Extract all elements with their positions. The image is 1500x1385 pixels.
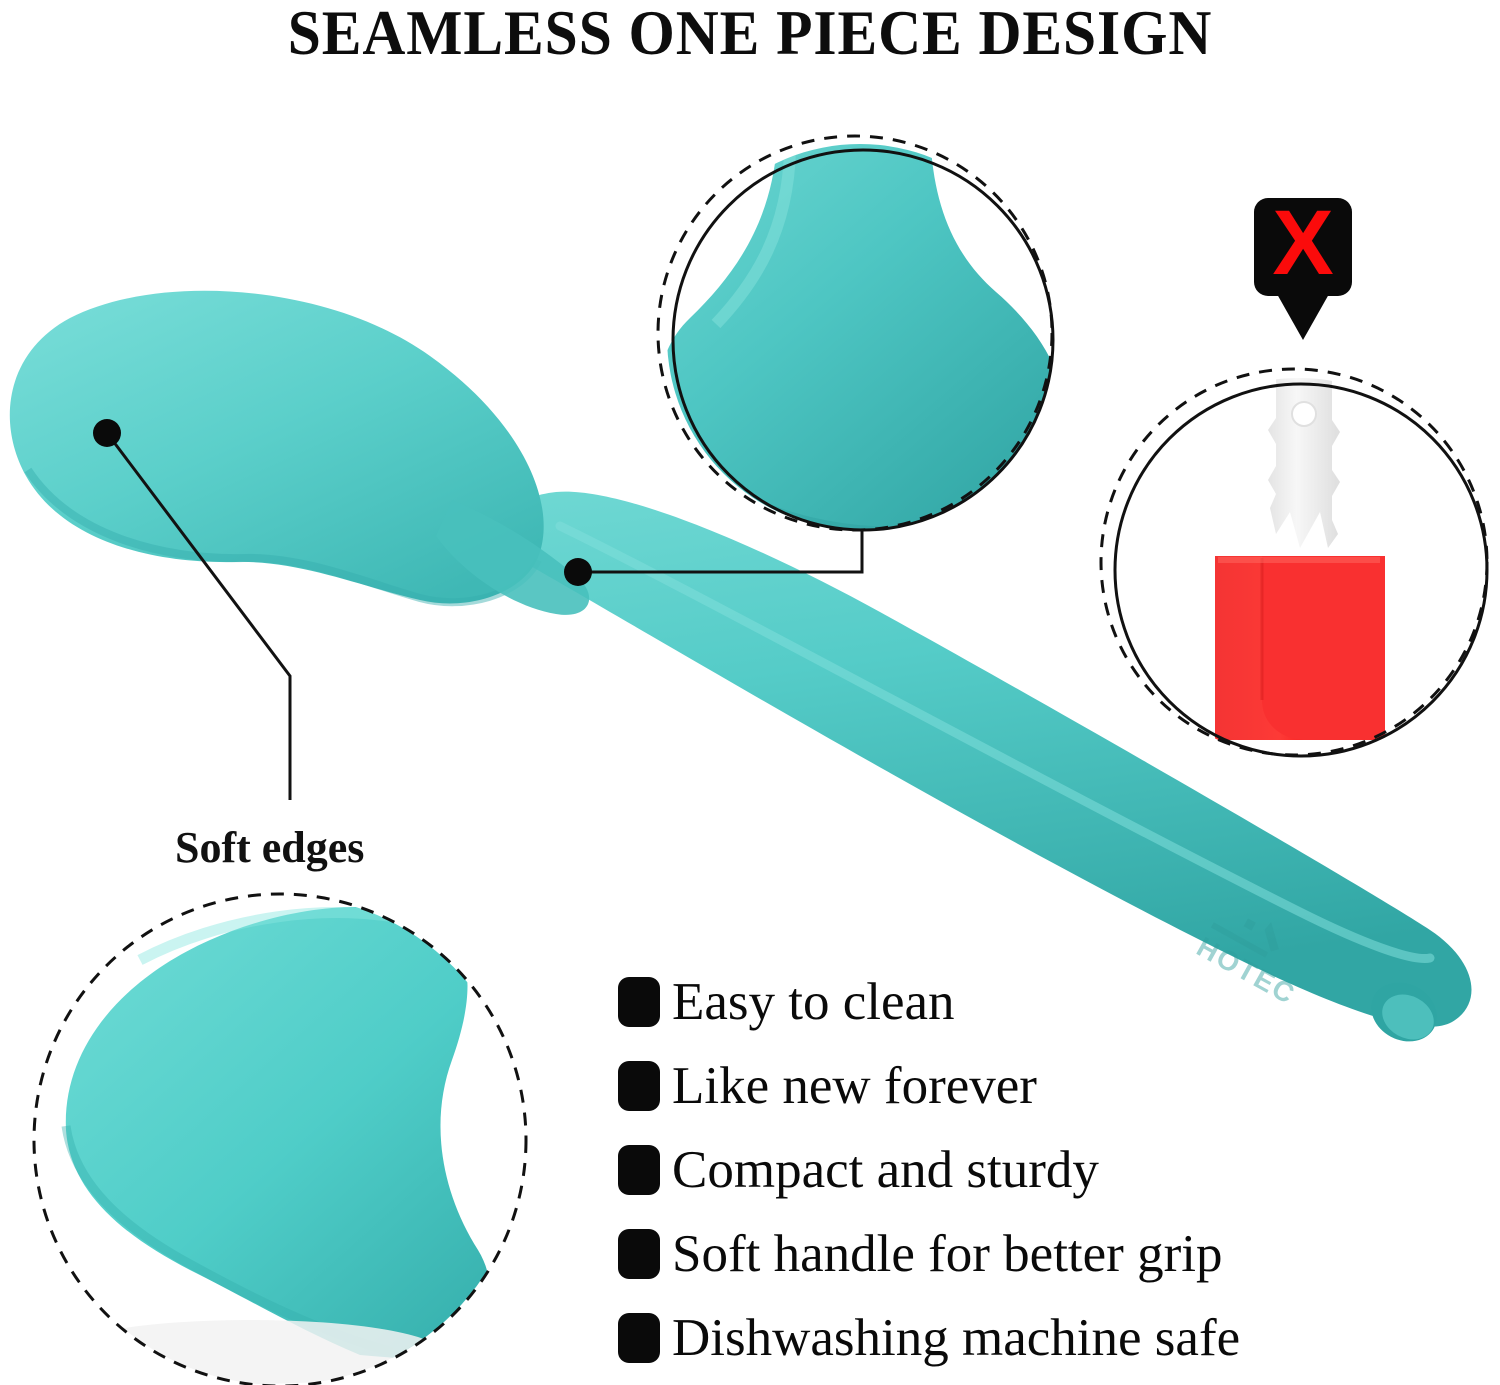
soft-edges-anchor-dot <box>93 419 121 447</box>
feature-label: Easy to clean <box>672 976 955 1029</box>
list-item: Like new forever <box>618 1044 1378 1128</box>
warning-x-badge: X <box>1254 198 1352 296</box>
x-icon: X <box>1254 194 1352 292</box>
bullet-square-icon <box>618 1313 660 1363</box>
bad-example-white-handle <box>1268 360 1340 548</box>
callout-seamless-neck <box>658 120 1064 548</box>
bullet-square-icon <box>618 1145 660 1195</box>
bad-example-red-head <box>1215 556 1385 740</box>
list-item: Easy to clean <box>618 960 1378 1044</box>
seamless-anchor-dot <box>564 558 592 586</box>
feature-label: Like new forever <box>672 1060 1037 1113</box>
bullet-square-icon <box>618 1229 660 1279</box>
bullet-square-icon <box>618 1061 660 1111</box>
bad-example-hole <box>1292 402 1316 426</box>
warning-pointer-arrow-icon <box>1277 294 1329 340</box>
feature-label: Soft handle for better grip <box>672 1228 1222 1281</box>
list-item: Soft handle for better grip <box>618 1212 1378 1296</box>
list-item: Compact and sturdy <box>618 1128 1378 1212</box>
feature-list: Easy to clean Like new forever Compact a… <box>618 960 1378 1380</box>
callout-bad-example <box>1100 360 1500 790</box>
soft-edges-label: Soft edges <box>175 822 364 873</box>
infographic-canvas: SEAMLESS ONE PIECE DESIGN <box>0 0 1500 1385</box>
callout-soft-edge <box>30 890 530 1385</box>
feature-label: Dishwashing machine safe <box>672 1312 1240 1365</box>
list-item: Dishwashing machine safe <box>618 1296 1378 1380</box>
feature-label: Compact and sturdy <box>672 1144 1099 1197</box>
bullet-square-icon <box>618 977 660 1027</box>
